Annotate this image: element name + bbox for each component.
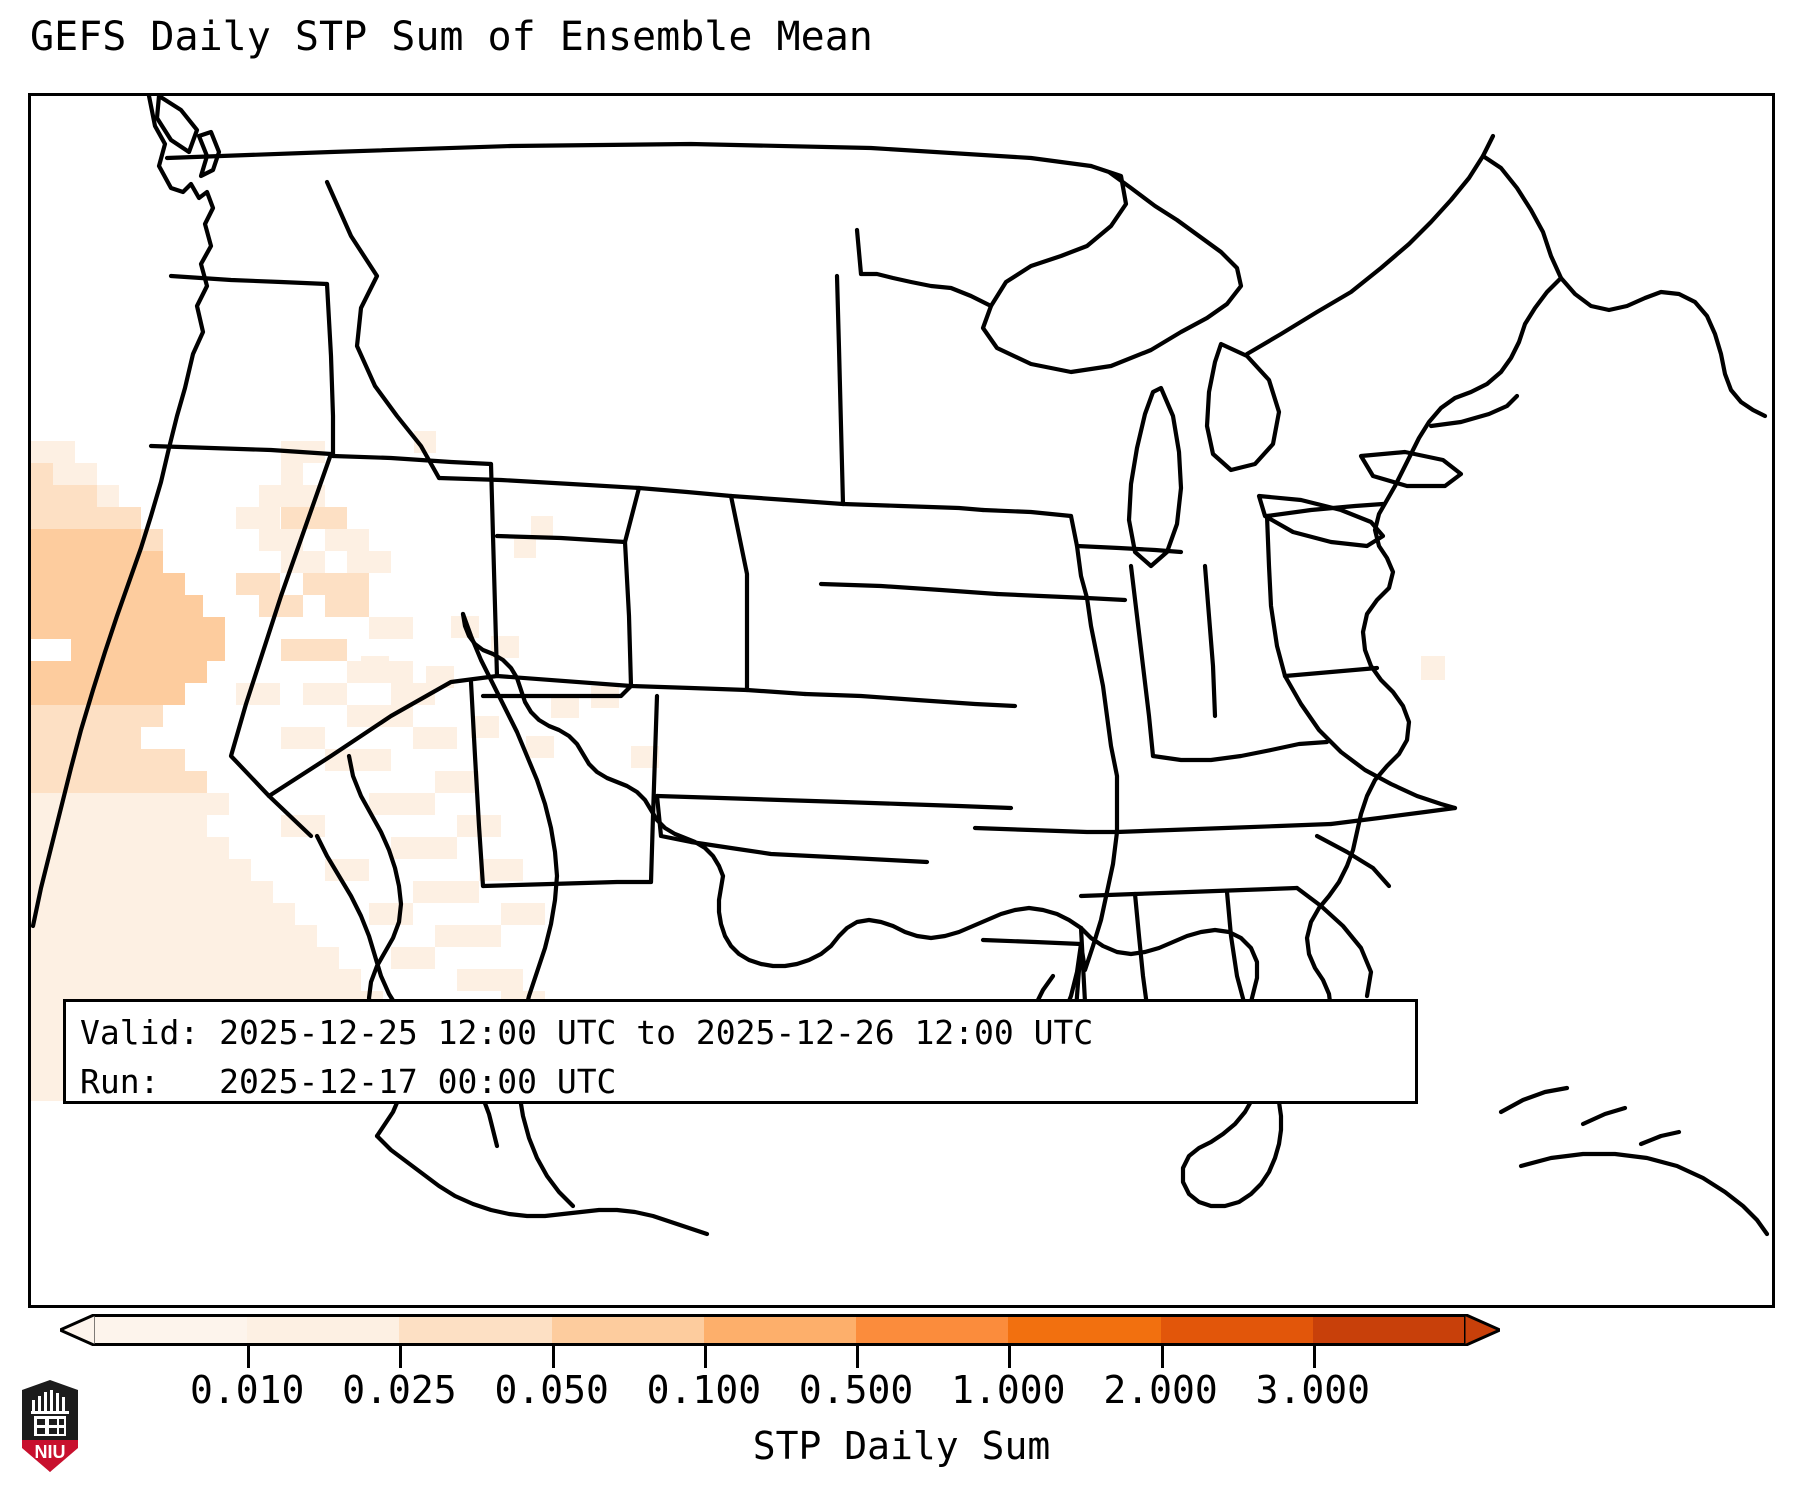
long-island [1431,396,1517,426]
figure-title: GEFS Daily STP Sum of Ensemble Mean [30,14,873,60]
coastline-pacific-northwest [33,96,213,926]
nd-sd-border [843,504,983,510]
az-nm-border [471,682,483,886]
or-ca-border [151,446,331,454]
colorbar-tick-labels: 0.0100.0250.0500.1000.5001.0002.0003.000 [0,1368,1803,1420]
bahamas-islands [1501,1088,1679,1144]
sd-ne-border [821,584,997,594]
colorbar-tick [399,1346,402,1368]
lake-michigan [1129,388,1181,566]
weather-map-figure: GEFS Daily STP Sum of Ensemble Mean [0,0,1803,1500]
colorbar-tick-label: 0.500 [799,1368,913,1412]
forecast-info-box: Valid: 2025-12-25 12:00 UTC to 2025-12-2… [63,999,1418,1104]
colorbar-tick-label: 2.000 [1103,1368,1217,1412]
colorbar-tick-label: 1.000 [951,1368,1065,1412]
colorbar-tick-label: 0.050 [494,1368,608,1412]
valid-time-line: Valid: 2025-12-25 12:00 UTC to 2025-12-2… [80,1008,1401,1057]
run-time-line: Run: 2025-12-17 00:00 UTC [80,1057,1401,1106]
colorbar-tick [1008,1346,1011,1368]
rio-grande [463,614,723,876]
colorbar-min-arrow [60,1314,96,1346]
mt-wy-border [439,478,639,488]
colorbar-tick-label: 0.025 [342,1368,456,1412]
mn-ia-border [983,510,1071,516]
colorbar-tick-label: 3.000 [1256,1368,1370,1412]
colorbar-tick [247,1346,250,1368]
wa-or-border [171,276,327,284]
colorbar-axis-label: STP Daily Sum [0,1424,1803,1468]
il-in-border [1131,566,1153,756]
colorbar-tick [856,1346,859,1368]
colorbar-tick [1313,1346,1316,1368]
nv-ca-border [231,454,331,836]
id-mt-border [327,182,439,478]
minnesota-border-north [857,230,991,306]
ky-tn-border [1117,824,1331,832]
coastline-gulf [719,876,1081,966]
colorbar-ticks [60,1346,1500,1368]
il-wi-border [1077,546,1181,552]
mexico-interior [463,614,573,1206]
colorbar-tick-label: 0.100 [647,1368,761,1412]
ks-ok-border [657,796,1011,808]
maine-coast [1483,156,1765,416]
ar-la-border [983,940,1081,944]
colorbar-tick [1161,1346,1164,1368]
map-clip [31,96,1772,1305]
map-panel[interactable]: Valid: 2025-12-25 12:00 UTC to 2025-12-2… [28,93,1775,1308]
id-wa-or-border [327,284,333,456]
oh-wv-pa-border [1267,516,1285,676]
geography-outlines [31,96,1772,1305]
wy-co-border [639,488,747,690]
mexico-south-coast [377,1136,707,1234]
lake-huron [1207,344,1279,470]
tn-ms-al-ga-border [1081,888,1297,896]
in-oh-border [1205,566,1215,716]
nv-az-border [269,676,497,796]
co-ne-ks-border [631,686,805,694]
nm-tx-border [483,696,657,886]
ut-co-border [497,542,631,686]
nm-co-border [483,686,631,696]
ok-tx-border [657,796,927,862]
colorbar-tick [704,1346,707,1368]
us-canada-border-west [167,144,1091,166]
ut-wy-border [497,488,639,542]
nc-va-border [1331,808,1455,824]
colorbar-tick-label: 0.010 [190,1368,304,1412]
nv-ut-border [491,464,497,676]
in-ky-ohio-river [1153,742,1327,760]
colorbar-tick [552,1346,555,1368]
lake-superior [983,166,1241,372]
ne-ks-border [805,694,1015,706]
wy-sd-ne-border [731,496,843,504]
st-lawrence-river [1247,136,1493,354]
mt-nd-border [837,276,843,504]
ia-mo-border [997,594,1125,600]
pa-md-border [1285,668,1377,676]
colorbar[interactable] [60,1314,1500,1346]
colorbar-outline [95,1314,1465,1346]
cuba-island [1521,1154,1767,1234]
id-nv-ut-border [333,456,491,464]
colorbar-max-arrow [1464,1314,1500,1346]
mo-ar-border [975,828,1117,832]
niu-logo[interactable]: NIU [18,1378,82,1474]
puget-sound-detail [199,132,219,176]
niu-logo-text: NIU [35,1442,66,1462]
